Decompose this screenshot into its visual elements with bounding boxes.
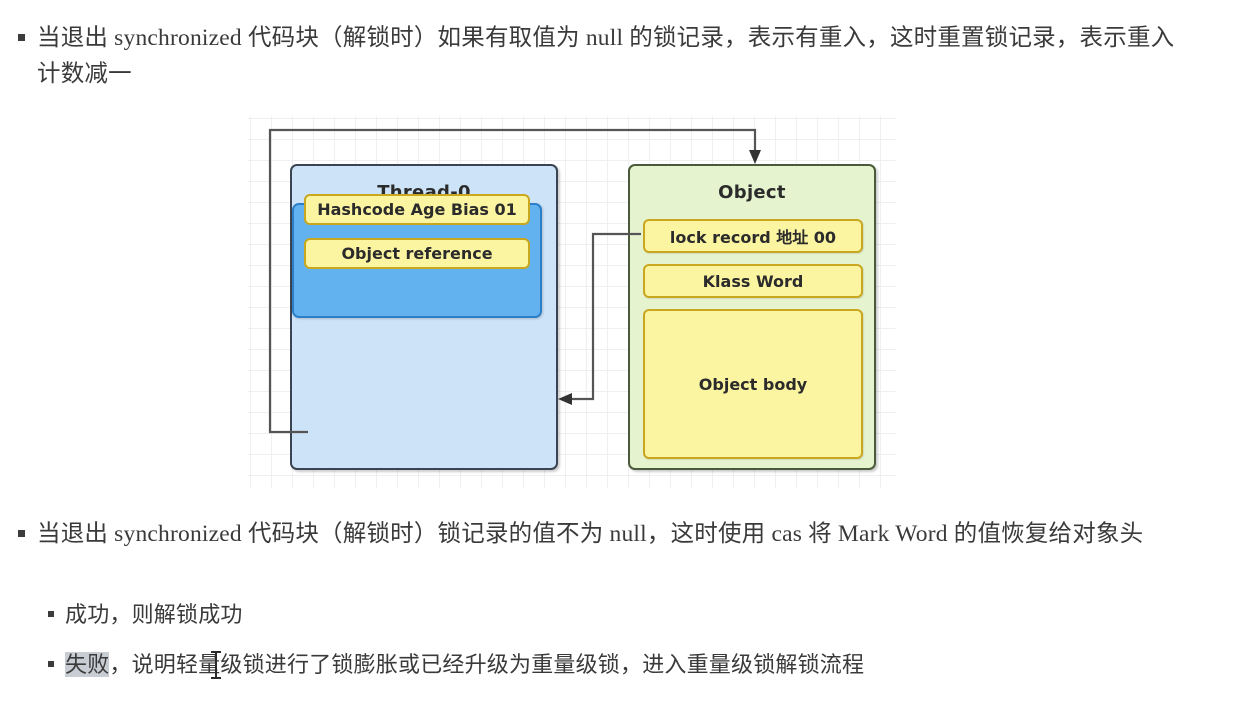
paragraph-2-text: 当退出 synchronized 代码块（解锁时）锁记录的值不为 null，这时… [37, 516, 1143, 552]
paragraph-4-text: 失败，说明轻量级锁进行了锁膨胀或已经升级为重量级锁，进入重量级锁解锁流程 [65, 648, 864, 682]
selected-text[interactable]: 失败 [65, 652, 109, 677]
bullet-paragraph-2: 当退出 synchronized 代码块（解锁时）锁记录的值不为 null，这时… [18, 516, 1198, 552]
object-field-object-body: Object body [643, 309, 863, 459]
square-bullet-icon [48, 661, 54, 667]
object-field-klass-word: Klass Word [643, 264, 863, 298]
paragraph-3-text: 成功，则解锁成功 [65, 598, 243, 632]
square-bullet-icon [48, 611, 54, 617]
thread-0-box: Thread-0 Lock Record Hashcode Age Bias 0… [290, 164, 558, 470]
lock-record-field-object-reference: Object reference [304, 238, 530, 269]
arrowhead-down-icon [749, 150, 761, 164]
paragraph-1-text: 当退出 synchronized 代码块（解锁时）如果有取值为 null 的锁记… [37, 20, 1178, 92]
lock-record-diagram: Thread-0 Lock Record Hashcode Age Bias 0… [248, 116, 896, 488]
object-box: Object lock record 地址 00 Klass Word Obje… [628, 164, 876, 470]
paragraph-4-rest: ，说明轻量级锁进行了锁膨胀或已经升级为重量级锁，进入重量级锁解锁流程 [109, 652, 864, 677]
bullet-paragraph-3: 成功，则解锁成功 [48, 598, 1048, 632]
bullet-paragraph-1: 当退出 synchronized 代码块（解锁时）如果有取值为 null 的锁记… [18, 20, 1178, 92]
arrowhead-left-icon [558, 393, 572, 405]
square-bullet-icon [18, 34, 25, 41]
square-bullet-icon [18, 530, 25, 537]
lock-record-field-hashcode: Hashcode Age Bias 01 [304, 194, 530, 225]
object-title: Object [630, 182, 874, 203]
object-field-lock-record-address: lock record 地址 00 [643, 219, 863, 253]
text-cursor-icon [215, 651, 217, 679]
lock-record-box: Lock Record Hashcode Age Bias 01 Object … [292, 203, 542, 318]
